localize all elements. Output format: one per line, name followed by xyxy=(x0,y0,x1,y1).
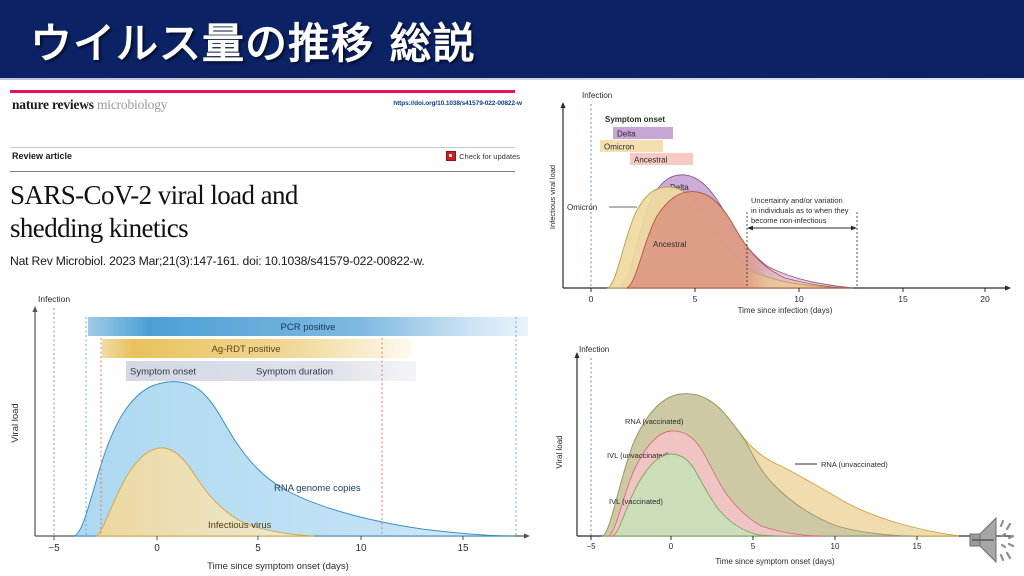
chart3-label-rna-unvaccinated: RNA (unvaccinated) xyxy=(821,460,888,469)
svg-text:−5: −5 xyxy=(48,543,60,554)
svg-text:10: 10 xyxy=(831,542,840,551)
chart1-onset-bar-omicron-label: Omicron xyxy=(604,143,634,152)
chart2-y-axis-label: Viral load xyxy=(10,403,21,442)
svg-text:10: 10 xyxy=(794,294,804,304)
chart2-label-infectious: Infectious virus xyxy=(208,520,272,531)
svg-text:15: 15 xyxy=(913,542,922,551)
svg-text:5: 5 xyxy=(751,542,756,551)
divider-top xyxy=(10,147,515,148)
paper-title-line1: SARS-CoV-2 viral load and xyxy=(10,179,522,212)
chart1-y-arrow xyxy=(560,102,565,108)
chart1-infection-label: Infection xyxy=(582,91,612,100)
speaker-audio-icon[interactable] xyxy=(968,512,1020,570)
chart3-label-ivl-vaccinated: IVL (vaccinated) xyxy=(609,497,663,506)
page-title: ウイルス量の推移 総説 xyxy=(30,10,476,71)
svg-text:5: 5 xyxy=(255,543,261,554)
crossmark-icon xyxy=(446,151,456,161)
journal-row: nature reviews microbiology https://doi.… xyxy=(10,97,522,117)
chart2-band-symptom-duration-label: Symptom duration xyxy=(256,367,333,378)
chart1-svg: Infection Infectious viral load Symptom … xyxy=(545,86,1024,316)
chart1-label-ancestral: Ancestral xyxy=(653,240,687,249)
paper-header-block: nature reviews microbiology https://doi.… xyxy=(10,90,522,268)
chart3-label-rna-vaccinated: RNA (vaccinated) xyxy=(625,417,684,426)
chart-variant-infectious-viral-load: Infection Infectious viral load Symptom … xyxy=(545,86,1024,316)
chart2-svg: Viral load Infection PCR positive Ag-RDT… xyxy=(2,288,537,576)
chart2-band-pcr-label: PCR positive xyxy=(281,322,336,333)
svg-text:10: 10 xyxy=(355,543,367,554)
chart2-y-arrow xyxy=(32,306,37,312)
journal-name-light: microbiology xyxy=(94,97,168,112)
chart3-svg: Viral load Infection RNA (vaccinated) IV… xyxy=(545,334,1024,576)
chart1-uncertainty-note-l2: in individuals as to when they xyxy=(751,206,849,215)
divider-bottom xyxy=(10,171,515,172)
svg-text:5: 5 xyxy=(693,294,698,304)
chart1-label-omicron: Omicron xyxy=(567,203,597,212)
journal-name-bold: nature reviews xyxy=(12,97,94,112)
article-type-label: Review article xyxy=(12,151,72,161)
title-underline xyxy=(0,78,1024,80)
svg-text:−5: −5 xyxy=(586,542,596,551)
chart2-x-axis-label: Time since symptom onset (days) xyxy=(207,561,349,572)
paper-title: SARS-CoV-2 viral load and shedding kinet… xyxy=(10,179,522,245)
chart2-band-symptom-onset-label: Symptom onset xyxy=(130,367,196,378)
chart1-uncertainty-note-l1: Uncertainty and/or variation xyxy=(751,196,843,205)
chart3-infection-label: Infection xyxy=(579,345,609,354)
chart2-label-rna: RNA genome copies xyxy=(274,483,361,494)
chart-vaccinated-vs-unvaccinated: Viral load Infection RNA (vaccinated) IV… xyxy=(545,334,1024,576)
check-for-updates-label: Check for updates xyxy=(459,152,520,161)
chart1-onset-bar-delta-label: Delta xyxy=(617,130,636,139)
svg-text:0: 0 xyxy=(589,294,594,304)
chart1-uncertainty-note-l3: become non-infectious xyxy=(751,216,827,225)
paper-citation: Nat Rev Microbiol. 2023 Mar;21(3):147-16… xyxy=(10,254,522,268)
article-type-row: Review article Check for updates xyxy=(10,151,522,169)
chart1-uncertainty-arrowhead-right xyxy=(851,226,857,231)
svg-text:15: 15 xyxy=(898,294,908,304)
chart3-x-ticks: −5 0 5 10 15 xyxy=(586,536,922,551)
svg-text:15: 15 xyxy=(457,543,469,554)
chart1-x-axis-label: Time since infection (days) xyxy=(738,306,833,315)
chart1-onset-bar-ancestral-label: Ancestral xyxy=(634,156,668,165)
chart2-infection-label: Infection xyxy=(38,294,70,304)
doi-link[interactable]: https://doi.org/10.1038/s41579-022-00822… xyxy=(393,100,522,107)
chart2-x-ticks: −5 0 5 10 15 xyxy=(48,536,469,554)
chart1-x-arrow xyxy=(1005,285,1011,290)
chart1-symptom-onset-header: Symptom onset xyxy=(605,115,665,124)
paper-title-line2: shedding kinetics xyxy=(10,212,522,245)
chart1-uncertainty-arrowhead-left xyxy=(747,226,753,231)
svg-text:0: 0 xyxy=(154,543,160,554)
svg-text:20: 20 xyxy=(980,294,990,304)
chart2-x-arrow xyxy=(524,533,530,538)
svg-text:0: 0 xyxy=(669,542,674,551)
chart3-x-axis-label: Time since symptom onset (days) xyxy=(715,557,835,566)
chart3-y-axis-label: Viral load xyxy=(555,435,564,468)
journal-logo: nature reviews microbiology xyxy=(12,97,167,113)
chart-viral-load-vs-symptom-onset: Viral load Infection PCR positive Ag-RDT… xyxy=(2,288,537,576)
speaker-icon-svg xyxy=(968,512,1020,570)
check-for-updates-badge[interactable]: Check for updates xyxy=(446,151,520,161)
journal-accent-rule xyxy=(10,90,515,93)
chart1-y-axis-label: Infectious viral load xyxy=(548,165,557,229)
chart1-x-ticks: 0 5 10 15 20 xyxy=(589,288,990,304)
chart2-band-agrdt-label: Ag-RDT positive xyxy=(212,344,281,355)
